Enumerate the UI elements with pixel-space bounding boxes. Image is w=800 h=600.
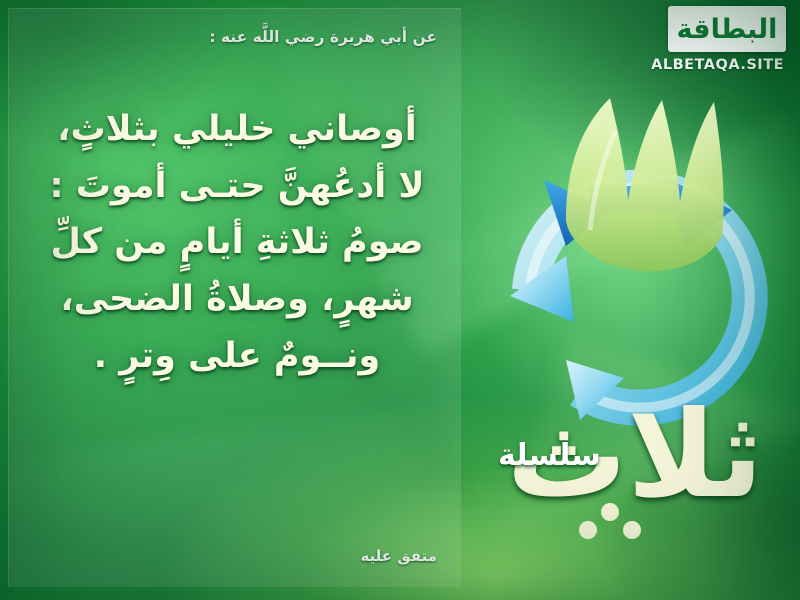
three-dots-icon <box>579 503 641 539</box>
series-emblem <box>470 60 800 600</box>
brand-block[interactable]: البطاقة ALBETAQA.SITE <box>646 6 786 73</box>
hadith-line: لا أدعُهنَّ حتـى أموتَ : <box>35 158 439 215</box>
brand-logo-text: البطاقة <box>677 16 778 43</box>
hadith-line: ونــومٌ على وِترٍ . <box>35 328 439 385</box>
hadith-line: شهرٍ، وصلاةُ الضحى، <box>35 271 439 328</box>
albetaqa-logo-icon[interactable]: البطاقة <box>668 6 786 52</box>
hadith-source: متفق عليه <box>360 547 437 565</box>
series-label-text: سلسلة <box>498 438 601 473</box>
hadith-line: أوصاني خليلي بثلاثٍ، <box>35 101 439 158</box>
brand-url[interactable]: ALBETAQA.SITE <box>646 57 786 73</box>
hadith-body: أوصاني خليلي بثلاثٍ، لا أدعُهنَّ حتـى أم… <box>35 101 439 384</box>
hadith-card: ثلاث سلسلة عن أبي هريرة رضي اللَّه عنه :… <box>0 0 800 600</box>
text-panel: عن أبي هريرة رضي اللَّه عنه : أوصاني خلي… <box>8 8 461 587</box>
hadith-narrator: عن أبي هريرة رضي اللَّه عنه : <box>49 27 437 49</box>
hadith-line: صومُ ثلاثةِ أيامٍ من كلِّ <box>35 214 439 271</box>
crown-shape-icon <box>566 98 724 271</box>
